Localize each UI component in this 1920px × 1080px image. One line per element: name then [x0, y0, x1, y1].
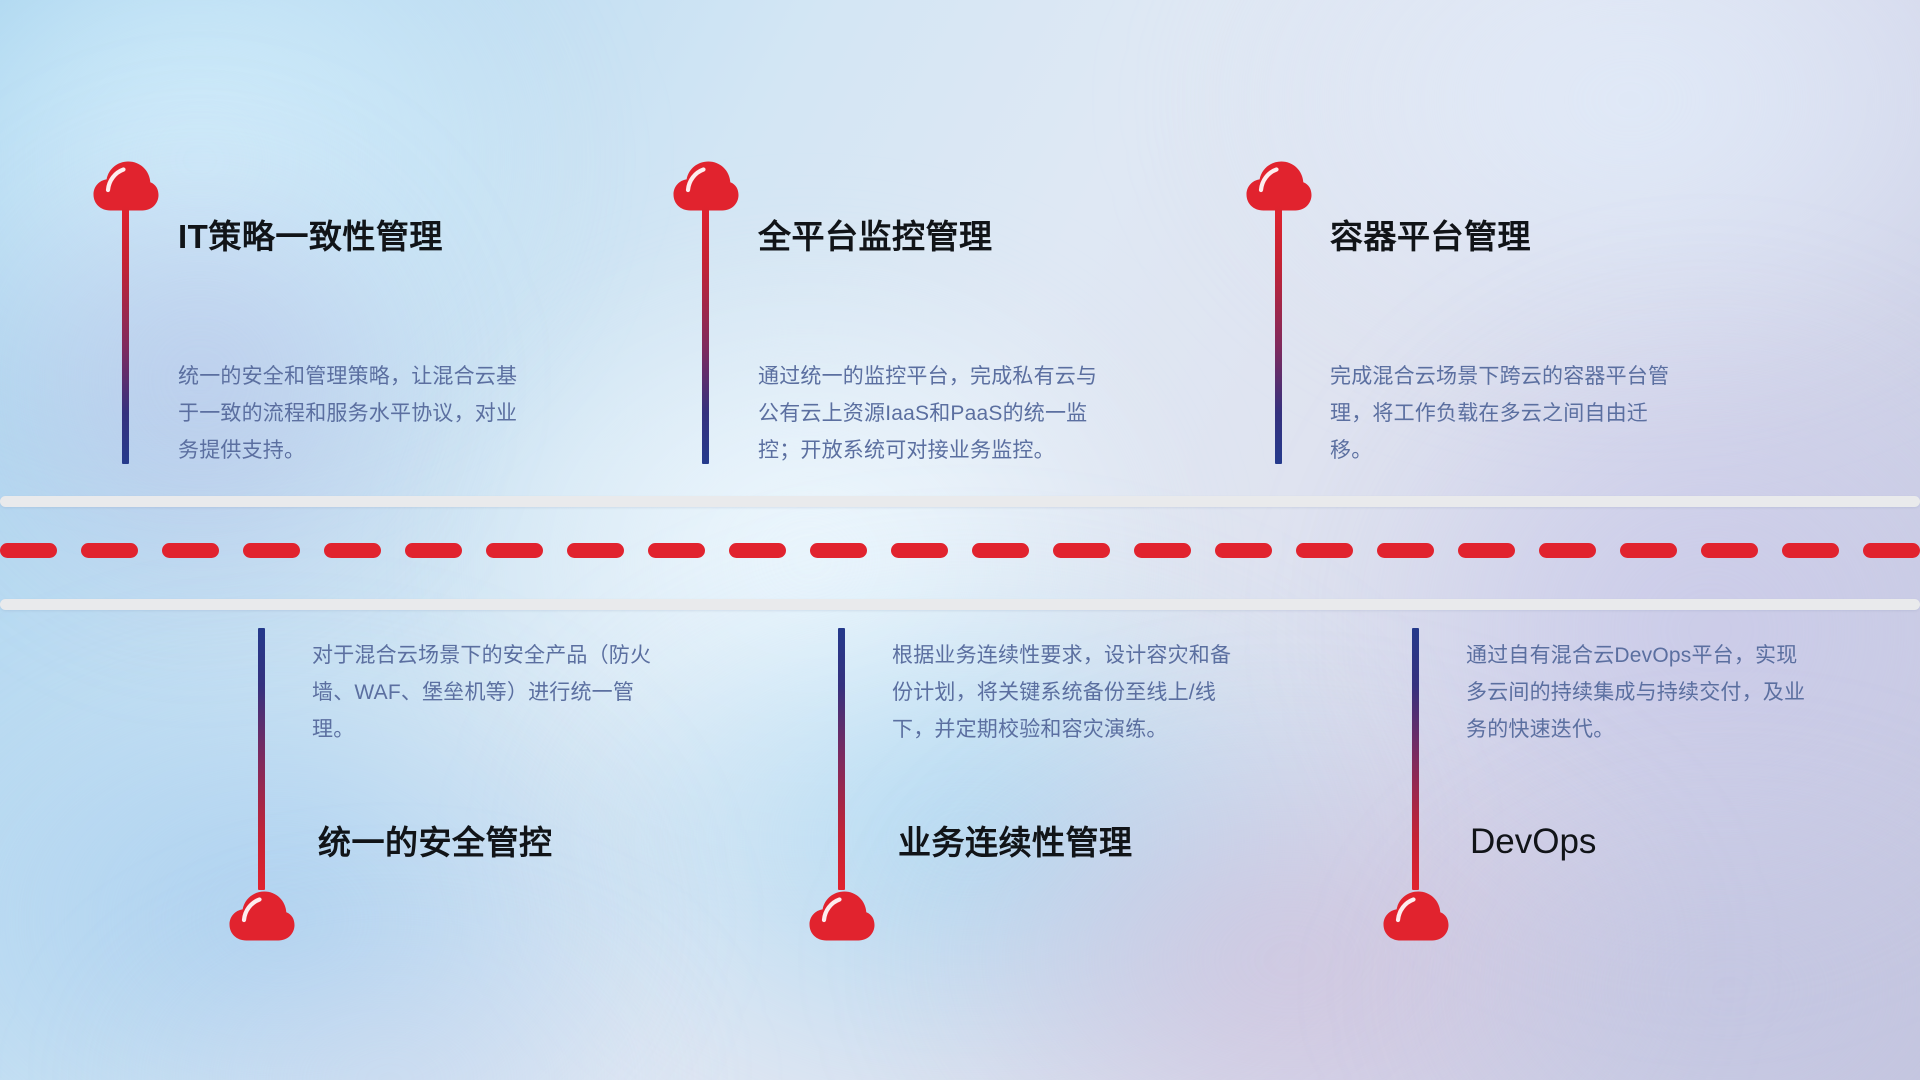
top-item-body: 统一的安全和管理策略，让混合云基于一致的流程和服务水平协议，对业务提供支持。: [178, 358, 530, 469]
stem-line: [702, 206, 709, 464]
road-rail-top: [0, 496, 1920, 507]
top-item-title: 全平台监控管理: [758, 220, 993, 253]
bottom-item-body: 通过自有混合云DevOps平台，实现多云间的持续集成与持续交付，及业务的快速迭代…: [1466, 637, 1818, 748]
road-dash: [1782, 543, 1839, 558]
top-item-title: 容器平台管理: [1330, 220, 1531, 253]
road-rail-bottom: [0, 599, 1920, 610]
road-dash: [486, 543, 543, 558]
stem-line: [838, 628, 845, 890]
road-dash: [243, 543, 300, 558]
cloud-icon: [228, 890, 296, 942]
road-dash: [1458, 543, 1515, 558]
road-dash: [729, 543, 786, 558]
road-dash: [81, 543, 138, 558]
cloud-icon: [672, 160, 740, 212]
road-dash: [972, 543, 1029, 558]
stem-line: [122, 206, 129, 464]
road-dash: [1215, 543, 1272, 558]
road-dash: [1863, 543, 1920, 558]
road-dash: [1134, 543, 1191, 558]
bottom-item-title: 统一的安全管控: [318, 826, 553, 859]
road-dash: [810, 543, 867, 558]
cloud-icon: [1382, 890, 1450, 942]
bottom-item-body: 对于混合云场景下的安全产品（防火墙、WAF、堡垒机等）进行统一管理。: [312, 637, 664, 748]
road-dash: [324, 543, 381, 558]
stem-line: [1412, 628, 1419, 890]
road-dash: [1701, 543, 1758, 558]
bottom-item-title: DevOps: [1470, 824, 1596, 859]
road-dashed-centerline: [0, 543, 1920, 558]
cloud-icon: [808, 890, 876, 942]
road-dash: [1620, 543, 1677, 558]
bottom-item-body: 根据业务连续性要求，设计容灾和备份计划，将关键系统备份至线上/线下，并定期校验和…: [892, 637, 1244, 748]
bottom-item-title: 业务连续性管理: [898, 826, 1133, 859]
road-dash: [405, 543, 462, 558]
infographic-canvas: IT策略一致性管理 统一的安全和管理策略，让混合云基于一致的流程和服务水平协议，…: [0, 0, 1920, 1080]
road-dash: [1053, 543, 1110, 558]
road-dash: [648, 543, 705, 558]
top-item-body: 完成混合云场景下跨云的容器平台管理，将工作负载在多云之间自由迁移。: [1330, 358, 1682, 469]
stem-line: [258, 628, 265, 890]
road-dash: [1377, 543, 1434, 558]
road-dash: [567, 543, 624, 558]
top-item-title: IT策略一致性管理: [178, 220, 443, 253]
cloud-icon: [1245, 160, 1313, 212]
road-dash: [1296, 543, 1353, 558]
stem-line: [1275, 206, 1282, 464]
road-dash: [891, 543, 948, 558]
cloud-icon: [92, 160, 160, 212]
top-item-body: 通过统一的监控平台，完成私有云与公有云上资源IaaS和PaaS的统一监控；开放系…: [758, 358, 1110, 469]
road-dash: [162, 543, 219, 558]
road-dash: [0, 543, 57, 558]
road-dash: [1539, 543, 1596, 558]
